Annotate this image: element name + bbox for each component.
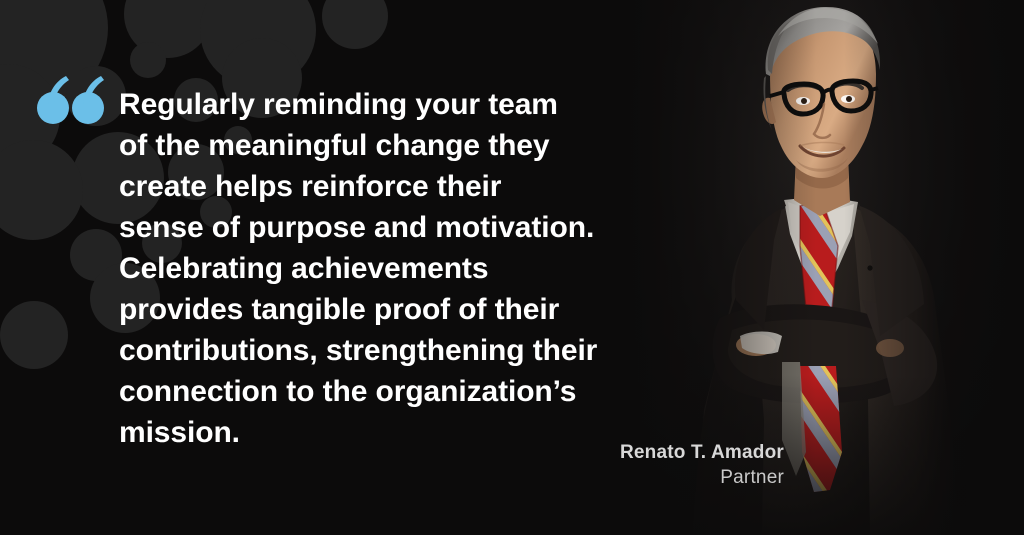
author-role: Partner	[420, 465, 784, 491]
author-name: Renato T. Amador	[420, 440, 784, 465]
quote-open-icon	[36, 76, 106, 128]
quote-card: Regularly reminding your team of the mea…	[0, 0, 1024, 535]
quote-text: Regularly reminding your team of the mea…	[119, 84, 619, 453]
attribution: Renato T. Amador Partner	[420, 440, 784, 491]
